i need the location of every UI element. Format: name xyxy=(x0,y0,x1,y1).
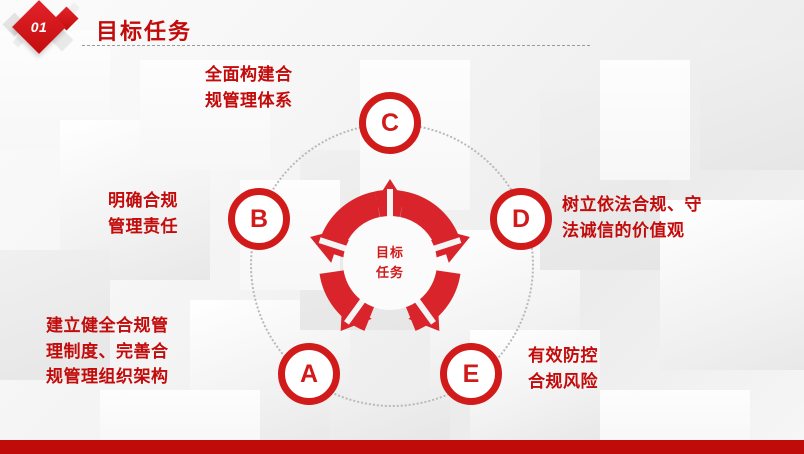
node-letter-e: E xyxy=(463,360,480,389)
node-letter-a: A xyxy=(300,360,318,389)
node-circle-a[interactable]: A xyxy=(278,343,340,405)
caption-a: 建立健全合规管 理制度、完善合 规管理组织架构 xyxy=(46,313,169,390)
slide-header: 01 目标任务 xyxy=(0,0,804,62)
node-letter-d: D xyxy=(512,205,530,234)
node-letter-c: C xyxy=(381,109,399,138)
caption-b: 明确合规 管理责任 xyxy=(108,188,178,239)
background-block xyxy=(600,390,750,445)
wheel-center-label-line2: 任务 xyxy=(376,263,404,283)
node-circle-d[interactable]: D xyxy=(490,188,552,250)
title-divider xyxy=(82,45,590,46)
wheel-center-label: 目标 任务 xyxy=(300,173,480,353)
caption-c-line1: 全面构建合 xyxy=(205,62,293,88)
node-letter-b: B xyxy=(250,205,268,234)
slide-canvas: 01 目标任务 全面构建合 规管理体系 明确合规 管理责任 建立健全合规管 理制… xyxy=(0,0,804,454)
node-circle-e[interactable]: E xyxy=(440,343,502,405)
caption-a-line1: 建立健全合规管 xyxy=(46,313,169,339)
section-number-label: 01 xyxy=(20,8,58,46)
caption-b-line2: 管理责任 xyxy=(108,214,178,240)
caption-b-line1: 明确合规 xyxy=(108,188,178,214)
node-circle-c[interactable]: C xyxy=(359,92,421,154)
background-block xyxy=(600,60,690,180)
caption-a-line3: 规管理组织架构 xyxy=(46,364,169,390)
page-title: 目标任务 xyxy=(96,14,192,46)
wheel-center-label-line1: 目标 xyxy=(376,243,404,263)
cycle-diagram: 目标 任务 C B D A E xyxy=(180,88,600,418)
caption-a-line2: 理制度、完善合 xyxy=(46,339,169,365)
bottom-accent-bar xyxy=(0,440,804,454)
node-circle-b[interactable]: B xyxy=(228,188,290,250)
